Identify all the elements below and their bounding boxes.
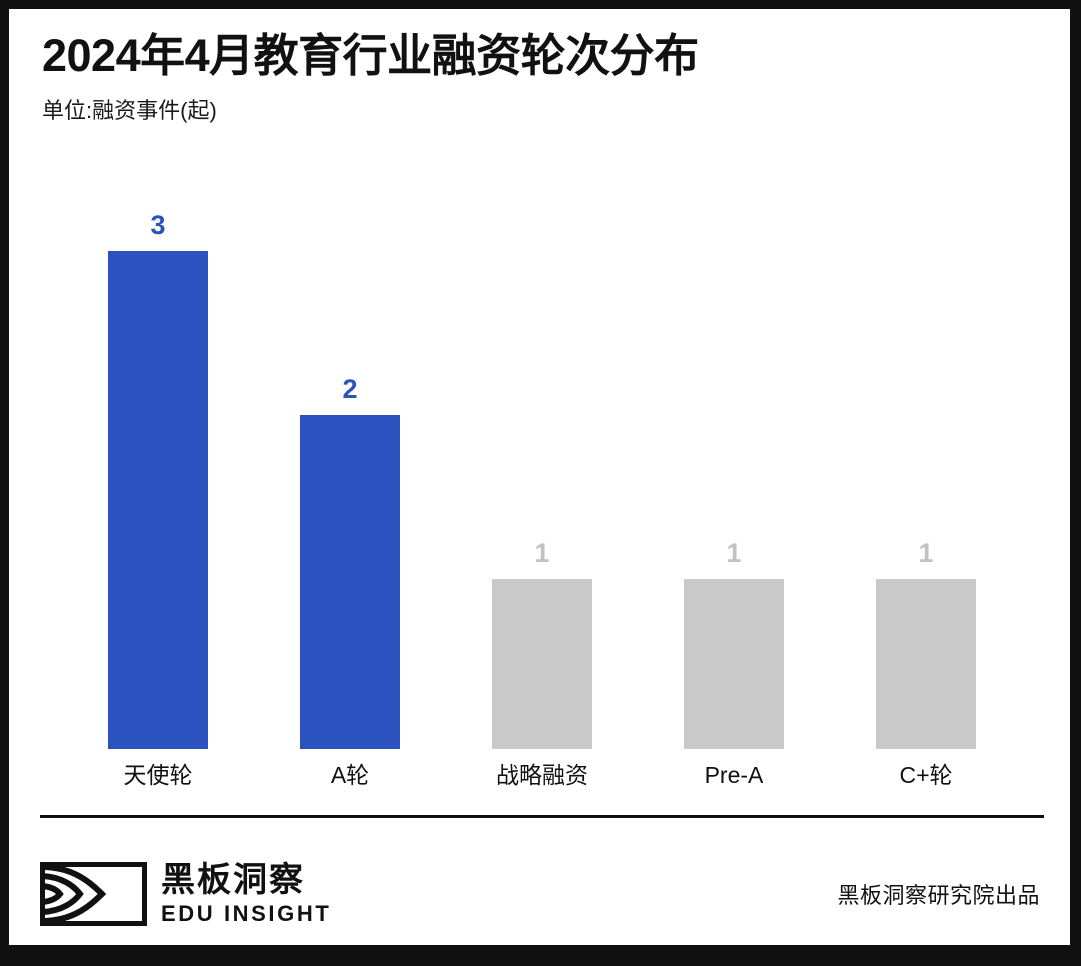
bar-rect (108, 251, 208, 749)
bar-group-c-plus-lun: 1 (842, 179, 1010, 749)
bar-rect (300, 415, 400, 749)
brand-name-en: EDU INSIGHT (161, 902, 331, 925)
footer-divider (40, 815, 1044, 818)
chart-card: 2024年4月教育行业融资轮次分布 单位:融资事件(起) 3 2 1 (9, 9, 1070, 945)
x-axis-tick-label: A轮 (266, 761, 434, 790)
footer-credit: 黑板洞察研究院出品 (837, 878, 1044, 910)
bar-value-label: 2 (342, 376, 357, 403)
x-axis-tick-label: 天使轮 (74, 761, 242, 790)
bar-value-label: 1 (918, 540, 933, 567)
x-axis-tick-label: 战略融资 (458, 761, 626, 790)
brand-lockup: 黑板洞察 EDU INSIGHT (40, 862, 331, 926)
bar-value-label: 1 (534, 540, 549, 567)
chart-subtitle: 单位:融资事件(起) (42, 98, 1042, 124)
brand-name-cn: 黑板洞察 (161, 863, 331, 899)
bar-value-label: 1 (726, 540, 741, 567)
bar-value-label: 3 (150, 212, 165, 239)
bar-group-zhanlue-rongzi: 1 (458, 179, 626, 749)
x-axis-tick-label: Pre-A (650, 761, 818, 790)
x-axis-labels: 天使轮 A轮 战略融资 Pre-A C+轮 (42, 761, 1042, 790)
image-frame: 2024年4月教育行业融资轮次分布 单位:融资事件(起) 3 2 1 (0, 0, 1081, 966)
bar-group-tianshilun: 3 (74, 179, 242, 749)
bar-rect (492, 579, 592, 749)
chart-header: 2024年4月教育行业融资轮次分布 单位:融资事件(起) (42, 31, 1042, 125)
x-axis-tick-label: C+轮 (842, 761, 1010, 790)
eye-logo-icon (40, 862, 147, 926)
bar-series: 3 2 1 1 1 (42, 179, 1042, 749)
bar-rect (876, 579, 976, 749)
bar-rect (684, 579, 784, 749)
brand-text: 黑板洞察 EDU INSIGHT (161, 863, 331, 926)
page-title: 2024年4月教育行业融资轮次分布 (42, 31, 1042, 81)
bar-group-a-lun: 2 (266, 179, 434, 749)
chart-footer: 黑板洞察 EDU INSIGHT 黑板洞察研究院出品 (40, 849, 1044, 939)
bar-group-pre-a: 1 (650, 179, 818, 749)
chart-plot-area: 3 2 1 1 1 (42, 179, 1042, 749)
